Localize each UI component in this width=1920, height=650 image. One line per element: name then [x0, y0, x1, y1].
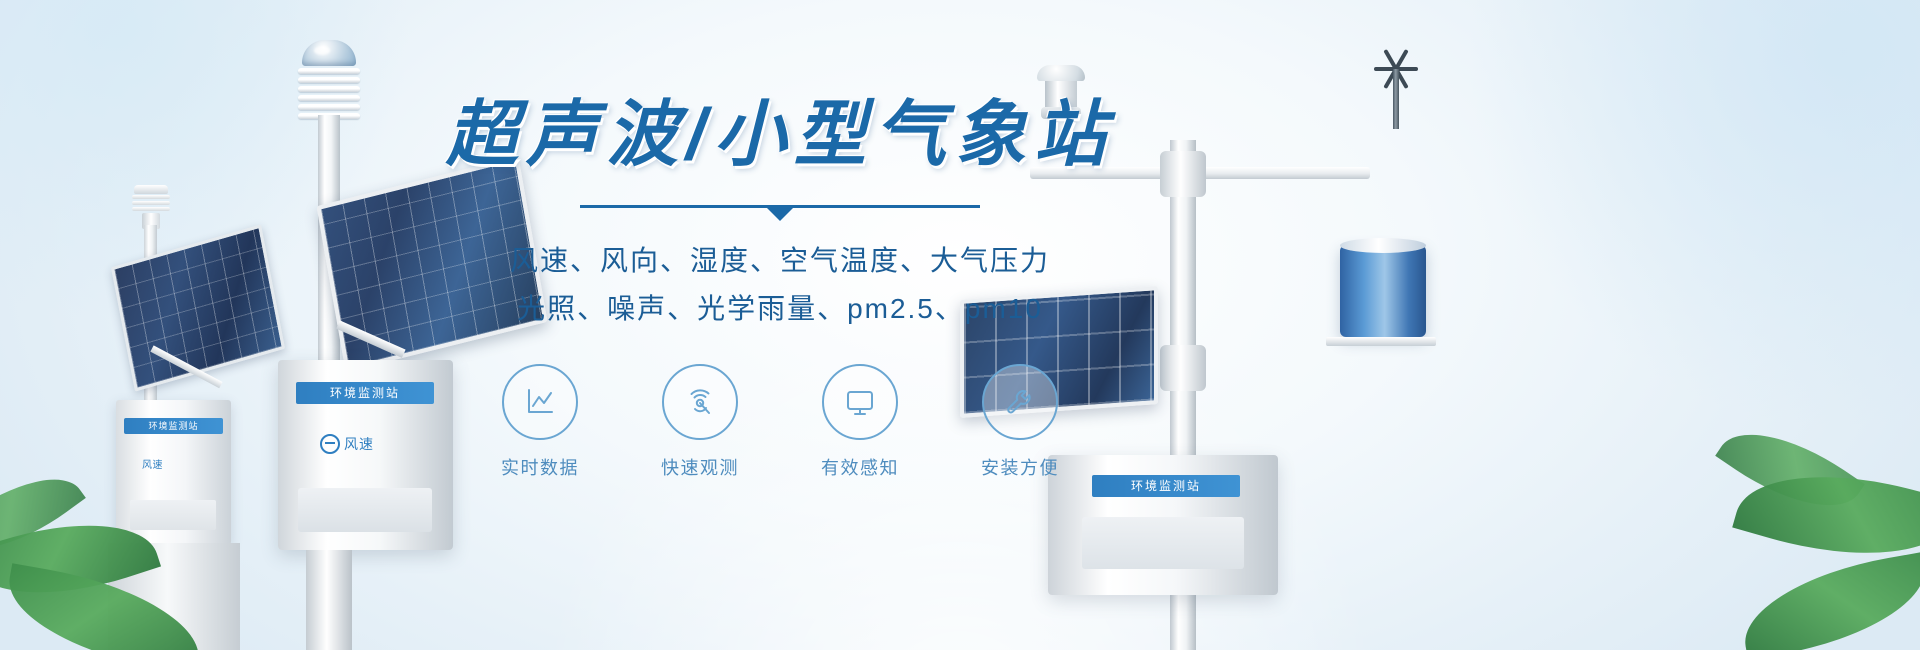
feature-label: 安装方便	[965, 454, 1075, 480]
radar-signal-icon	[682, 384, 718, 420]
brand-mark-icon	[320, 434, 340, 454]
feature-label: 快速观测	[645, 454, 755, 480]
feature-icon-circle	[982, 364, 1058, 440]
pole-clamp-upper	[1160, 151, 1206, 197]
rain-gauge-sensor	[1340, 245, 1426, 337]
feature-list: 实时数据 快速观测	[430, 364, 1130, 480]
feature-label: 实时数据	[485, 454, 595, 480]
control-box-label-small: 环境监测站	[124, 418, 223, 434]
page-title: 超声波/小型气象站	[430, 96, 1130, 175]
vent-panel-small	[130, 500, 216, 530]
feature-icon-circle	[662, 364, 738, 440]
feature-label: 有效感知	[805, 454, 915, 480]
control-box-label-tall: 环境监测站	[296, 382, 434, 404]
feature-item-fast-observation[interactable]: 快速观测	[645, 364, 755, 480]
wrench-tool-icon	[1002, 384, 1038, 420]
feature-icon-circle	[502, 364, 578, 440]
radiation-shield-sensor-small	[130, 185, 172, 225]
solar-panel-small	[111, 224, 285, 391]
subtitle-line-1: 风速、风向、湿度、空气温度、大气压力	[430, 239, 1130, 282]
feature-item-realtime-data[interactable]: 实时数据	[485, 364, 595, 480]
feature-item-effective-sensing[interactable]: 有效感知	[805, 364, 915, 480]
sensor-shelf	[1326, 337, 1436, 346]
brand-name-tall: 风速	[344, 434, 374, 454]
cup-anemometer-sensor	[1374, 59, 1418, 131]
feature-icon-circle	[822, 364, 898, 440]
subtitle-line-2: 光照、噪声、光学雨量、pm2.5、pm10	[430, 287, 1130, 330]
divider-triangle-icon	[767, 208, 793, 221]
control-box-small: 环境监测站 风速	[116, 400, 231, 545]
pole-clamp-lower	[1160, 345, 1206, 391]
brand-logo-small: 风速	[142, 456, 163, 471]
control-box-tall: 环境监测站 风速	[278, 360, 453, 550]
hero-content: 超声波/小型气象站 风速、风向、湿度、空气温度、大气压力 光照、噪声、光学雨量、…	[430, 96, 1130, 480]
leaf-decoration-right-bottom	[1735, 552, 1920, 650]
brand-logo-tall: 风速	[320, 434, 374, 454]
monitor-screen-icon	[842, 384, 878, 420]
vent-panel-tall	[298, 488, 432, 532]
chart-line-icon	[522, 384, 558, 420]
base-footing-tall	[306, 550, 352, 650]
light-sensor-dome-icon	[302, 40, 356, 66]
hero-banner: 环境监测站 风速 环境监测站 风速	[0, 0, 1920, 650]
feature-item-easy-installation[interactable]: 安装方便	[965, 364, 1075, 480]
title-divider	[580, 205, 980, 219]
vent-panel-right	[1082, 517, 1244, 569]
